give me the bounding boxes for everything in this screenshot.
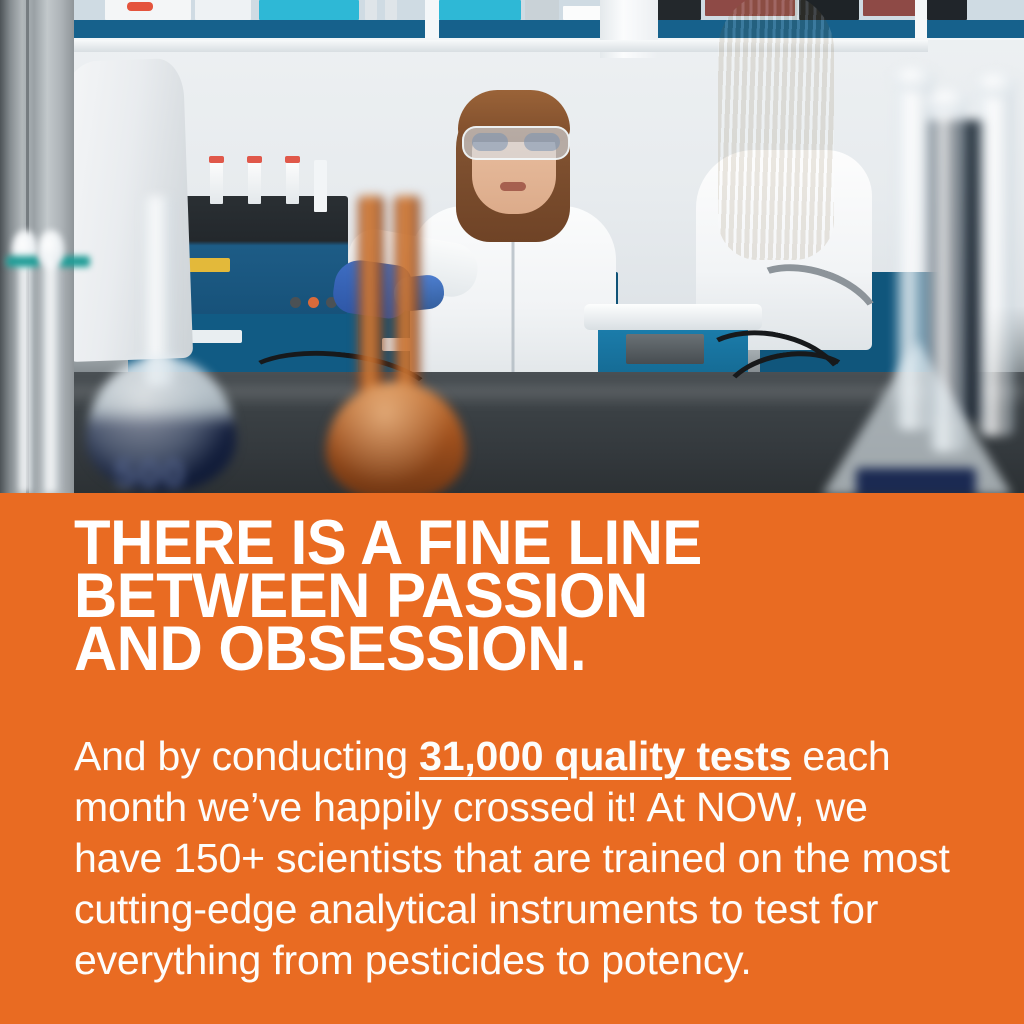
cylinder-stopper	[892, 66, 936, 92]
laboratory-photo: 500	[0, 0, 1024, 493]
cabinet-bottle	[385, 0, 397, 20]
cabinet-red-label	[127, 2, 153, 11]
flask-neck	[358, 196, 384, 406]
cabinet-dark-shelf	[927, 0, 967, 20]
cabinet-blue-bottle	[439, 0, 521, 20]
cabinet-bottle	[365, 0, 377, 20]
goggle-lens	[524, 133, 560, 151]
goggle-lens	[472, 133, 508, 151]
orange-message-panel: THERE IS A FINE LINE BETWEEN PASSION AND…	[0, 493, 1024, 1024]
upper-cabinet-band	[0, 0, 1024, 40]
cabinet-box	[195, 0, 251, 20]
test-tube	[248, 160, 261, 204]
hair-strands	[718, 0, 834, 260]
pipette	[38, 230, 64, 492]
pipette-body	[18, 258, 33, 492]
cabinet-white-item	[563, 6, 603, 20]
tube-cap	[247, 156, 262, 163]
cabinet-jar	[525, 0, 559, 20]
volumetric-flask-500: 500	[86, 196, 236, 492]
pipette	[12, 230, 38, 492]
safety-goggles-icon	[462, 126, 570, 160]
flask-bulb	[326, 382, 466, 493]
mouth	[500, 182, 526, 191]
wall-cabinet	[920, 0, 1024, 38]
scientist-right	[690, 0, 870, 340]
body-copy-before: And by conducting	[74, 733, 419, 779]
body-copy: And by conducting 31,000 quality tests e…	[74, 731, 954, 986]
analytical-balance-tray	[584, 304, 762, 330]
instrument-knob	[290, 297, 301, 308]
cabinet-red-items	[863, 0, 917, 16]
page-title: THERE IS A FINE LINE BETWEEN PASSION AND…	[74, 517, 910, 676]
cylinder-stopper	[974, 72, 1018, 98]
pipette-body	[44, 258, 59, 492]
teal-cap	[6, 256, 40, 267]
amber-flasks	[318, 196, 468, 493]
cylinder-stopper	[926, 88, 970, 114]
tube-cap	[209, 156, 224, 163]
cabinet-blue-bottle	[259, 0, 359, 20]
flask-liquid	[856, 468, 976, 493]
test-tube	[286, 160, 299, 204]
flask-volume-label: 500	[114, 452, 187, 493]
erlenmeyer-flask-right	[822, 300, 1012, 493]
flask-neck	[394, 196, 420, 406]
social-graphic-canvas: 500 THERE IS A FINE LINE BETWEEN PAS	[0, 0, 1024, 1024]
wall-cabinet	[62, 0, 432, 38]
tube-cap	[285, 156, 300, 163]
quality-tests-highlight: 31,000 quality tests	[419, 733, 791, 779]
